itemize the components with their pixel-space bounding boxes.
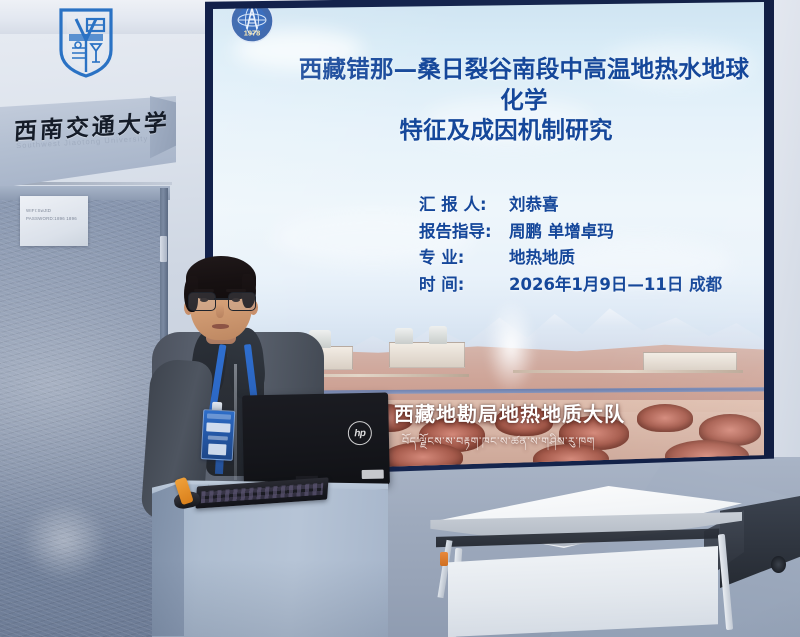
presenter-mouth <box>212 324 229 329</box>
metal-door[interactable] <box>0 186 166 637</box>
badge-qr-area <box>208 444 227 456</box>
slide-info-label: 报告指导: <box>419 219 503 246</box>
wifi-password-text: PASSWORD:1896 1896 <box>26 215 88 223</box>
badge-header-bar <box>207 413 231 419</box>
slide-info-label: 时 间: <box>419 272 503 299</box>
slide-title-line1: 西藏错那—桑日裂谷南段中高温地热水地球化学 <box>251 54 751 115</box>
plant-pipeline <box>513 370 743 373</box>
glasses-lens-right <box>228 292 256 311</box>
slide-info-block: 汇 报 人: 刘恭喜 报告指导: 周鹏 单增卓玛 专 业: 地热地质 时 间: … <box>419 192 749 299</box>
steam-plume <box>485 298 537 394</box>
slide-info-value: 刘恭喜 <box>509 192 559 219</box>
swjtu-shield-emblem <box>57 6 115 78</box>
slide-info-row-advisor: 报告指导: 周鹏 单增卓玛 <box>419 219 749 246</box>
conference-badge <box>201 409 236 461</box>
wifi-info-card: WIFI:SwJtD PASSWORD:1896 1896 <box>20 196 88 246</box>
slide-info-value: 周鹏 单增卓玛 <box>509 219 614 246</box>
slide-info-label: 汇 报 人: <box>419 192 503 219</box>
badge-subtitle-bar <box>208 435 228 440</box>
glasses-bridge <box>214 298 228 300</box>
plant-building <box>643 352 737 372</box>
glasses-lens-left <box>188 292 216 311</box>
lectern-shadow <box>152 560 388 637</box>
slide-info-row-major: 专 业: 地热地质 <box>419 245 749 272</box>
emblem-year-text: 1978 <box>244 29 260 38</box>
presenter-nose <box>216 304 224 318</box>
slide-info-value: 2026年1月9日—11日 成都 <box>509 272 722 299</box>
hp-logo-icon: hp <box>348 421 372 445</box>
slide-info-value: 地热地质 <box>509 245 575 272</box>
presentation-room-photo: 西南交通大学 Southwest Jiaotong University WIF… <box>0 0 800 637</box>
door-light-reflection <box>4 486 124 596</box>
table-latch-orange[interactable] <box>440 552 448 566</box>
slide-info-label: 专 业: <box>419 245 503 272</box>
plant-building <box>389 342 465 368</box>
plant-tank <box>429 326 447 344</box>
table-caster-wheel <box>771 556 786 573</box>
monitor-label-sticker <box>362 470 384 479</box>
slide-info-row-date: 时 间: 2026年1月9日—11日 成都 <box>419 272 749 299</box>
slide-title: 西藏错那—桑日裂谷南段中高温地热水地球化学 特征及成因机制研究 <box>251 54 751 146</box>
slide-title-line2: 特征及成因机制研究 <box>251 115 751 146</box>
wifi-ssid-text: WIFI:SwJtD <box>26 207 88 215</box>
slide-info-row-presenter: 汇 报 人: 刘恭喜 <box>419 192 749 219</box>
plant-tank <box>395 328 413 344</box>
badge-name-field <box>206 422 230 432</box>
